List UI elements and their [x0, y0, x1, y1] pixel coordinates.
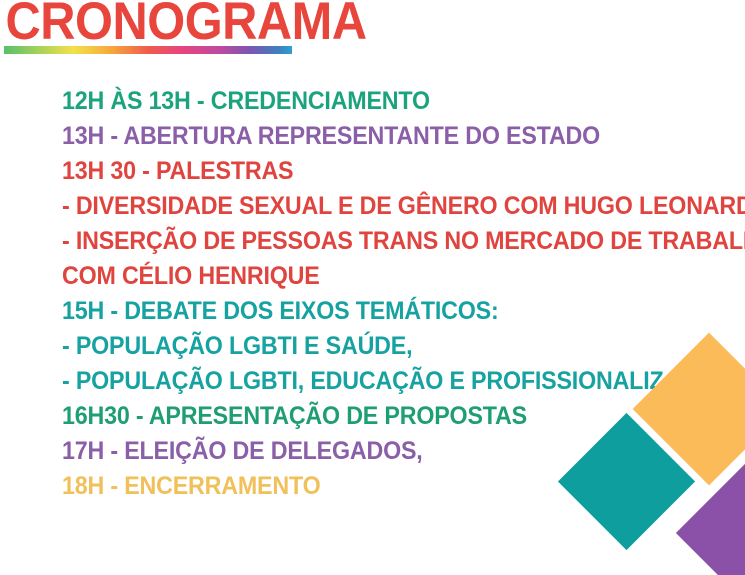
- rainbow-divider: [4, 46, 292, 54]
- schedule-line: 13H 30 - PALESTRAS: [62, 154, 639, 189]
- schedule-line: 16H30 - APRESENTAÇÃO DE PROPOSTAS: [62, 399, 639, 434]
- schedule-line: COM CÉLIO HENRIQUE: [62, 259, 639, 294]
- schedule-line: 18H - ENCERRAMENTO: [62, 469, 639, 504]
- schedule-line: 12H ÀS 13H - CREDENCIAMENTO: [62, 84, 639, 119]
- schedule-line: - DIVERSIDADE SEXUAL E DE GÊNERO COM HUG…: [62, 189, 639, 224]
- schedule-line: 17H - ELEIÇÃO DE DELEGADOS,: [62, 434, 639, 469]
- schedule-line: - POPULAÇÃO LGBTI, EDUCAÇÃO E PROFISSION…: [62, 364, 639, 399]
- schedule-list: 12H ÀS 13H - CREDENCIAMENTO13H - ABERTUR…: [62, 84, 682, 504]
- schedule-line: 13H - ABERTURA REPRESENTANTE DO ESTADO: [62, 119, 639, 154]
- page-title: CRONOGRAMA: [0, 0, 276, 50]
- schedule-line: - POPULAÇÃO LGBTI E SAÚDE,: [62, 329, 639, 364]
- poster-canvas: CRONOGRAMA 12H ÀS 13H - CREDENCIAMENTO13…: [0, 0, 745, 575]
- schedule-line: 15H - DEBATE DOS EIXOS TEMÁTICOS:: [62, 294, 639, 329]
- schedule-line: - INSERÇÃO DE PESSOAS TRANS NO MERCADO D…: [62, 224, 639, 259]
- title-block: CRONOGRAMA: [0, 0, 300, 50]
